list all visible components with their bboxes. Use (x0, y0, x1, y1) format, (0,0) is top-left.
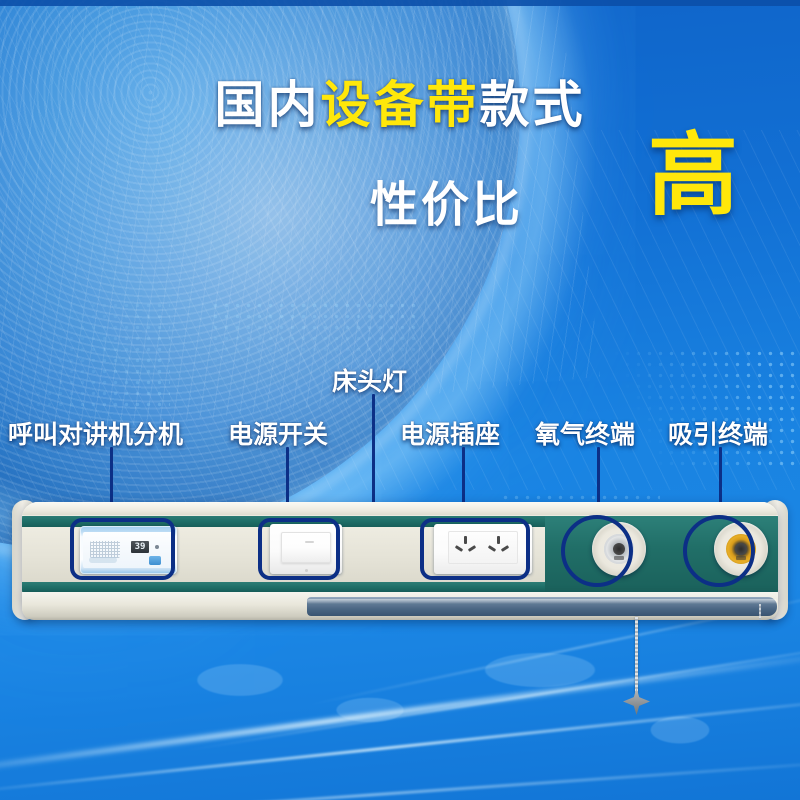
highlight-circle-suction (683, 515, 755, 587)
highlight-box-intercom (70, 518, 175, 580)
highlight-box-socket (420, 518, 530, 580)
highlight-box-switch (258, 518, 340, 580)
highlight-layer (0, 0, 800, 800)
promo-banner: 国内设备带款式 性价比 高 呼叫对讲机分机 电源开关 床头灯 电源插座 氧气终端… (0, 0, 800, 800)
highlight-circle-oxygen (561, 515, 633, 587)
